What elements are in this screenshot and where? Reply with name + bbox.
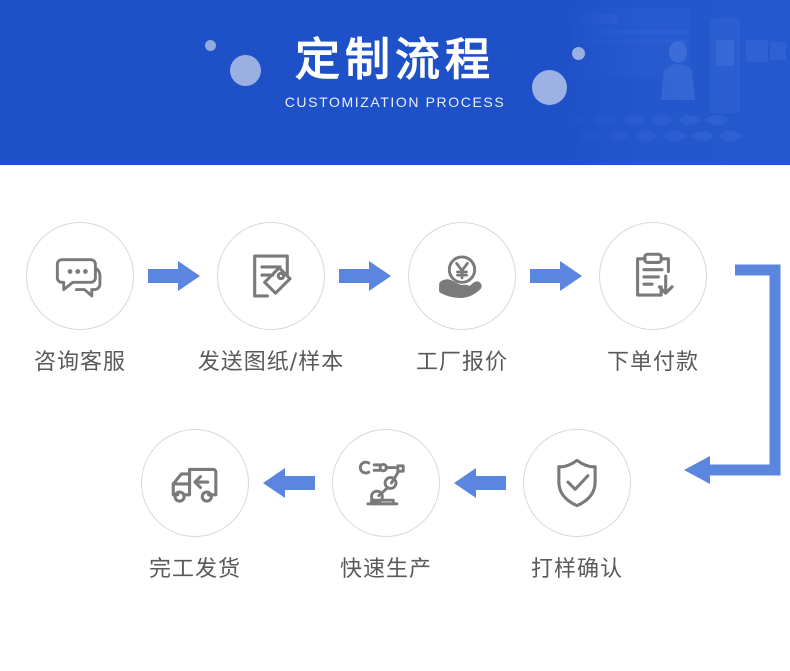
page-title: 定制流程 (0, 32, 790, 88)
flow-step-label: 咨询客服 (0, 344, 160, 376)
flow-step-circle (523, 429, 631, 537)
page-subtitle: CUSTOMIZATION PROCESS (0, 94, 790, 110)
arrow-step7-to-step6 (454, 466, 506, 500)
flow-step-label: 完工发货 (115, 551, 275, 583)
flow-step-fast-production[interactable]: 快速生产 (306, 429, 466, 583)
robot-arm-icon (357, 454, 415, 512)
flow-step-finish-shipment[interactable]: 完工发货 (115, 429, 275, 583)
flow-step-label: 快速生产 (306, 551, 466, 583)
flow-step-circle (217, 222, 325, 330)
flow-step-label: 工厂报价 (382, 344, 542, 376)
flow-step-circle (26, 222, 134, 330)
banner-text-block: 定制流程 CUSTOMIZATION PROCESS (0, 0, 790, 110)
flow-step-send-drawing-sample[interactable]: 发送图纸/样本 (191, 222, 351, 376)
page-header-banner: 定制流程 CUSTOMIZATION PROCESS (0, 0, 790, 165)
arrow-step3-to-step4 (530, 259, 582, 293)
connector-step4-to-step7 (640, 260, 790, 500)
process-flow-diagram: 咨询客服 发送图纸/样本 (0, 165, 790, 671)
flow-step-circle (141, 429, 249, 537)
document-tag-icon (242, 247, 300, 305)
shield-check-icon (548, 454, 606, 512)
flow-step-consult-service[interactable]: 咨询客服 (0, 222, 160, 376)
arrow-step6-to-step5 (263, 466, 315, 500)
flow-step-circle (408, 222, 516, 330)
chat-bubbles-icon (51, 247, 109, 305)
flow-step-circle (332, 429, 440, 537)
flow-step-sample-confirmation[interactable]: 打样确认 (497, 429, 657, 583)
flow-step-factory-quote[interactable]: 工厂报价 (382, 222, 542, 376)
flow-step-label: 发送图纸/样本 (191, 344, 351, 376)
flow-step-label: 打样确认 (497, 551, 657, 583)
arrow-step1-to-step2 (148, 259, 200, 293)
arrow-step2-to-step3 (339, 259, 391, 293)
delivery-truck-icon (166, 454, 224, 512)
hand-holding-yuan-coin-icon (433, 247, 491, 305)
